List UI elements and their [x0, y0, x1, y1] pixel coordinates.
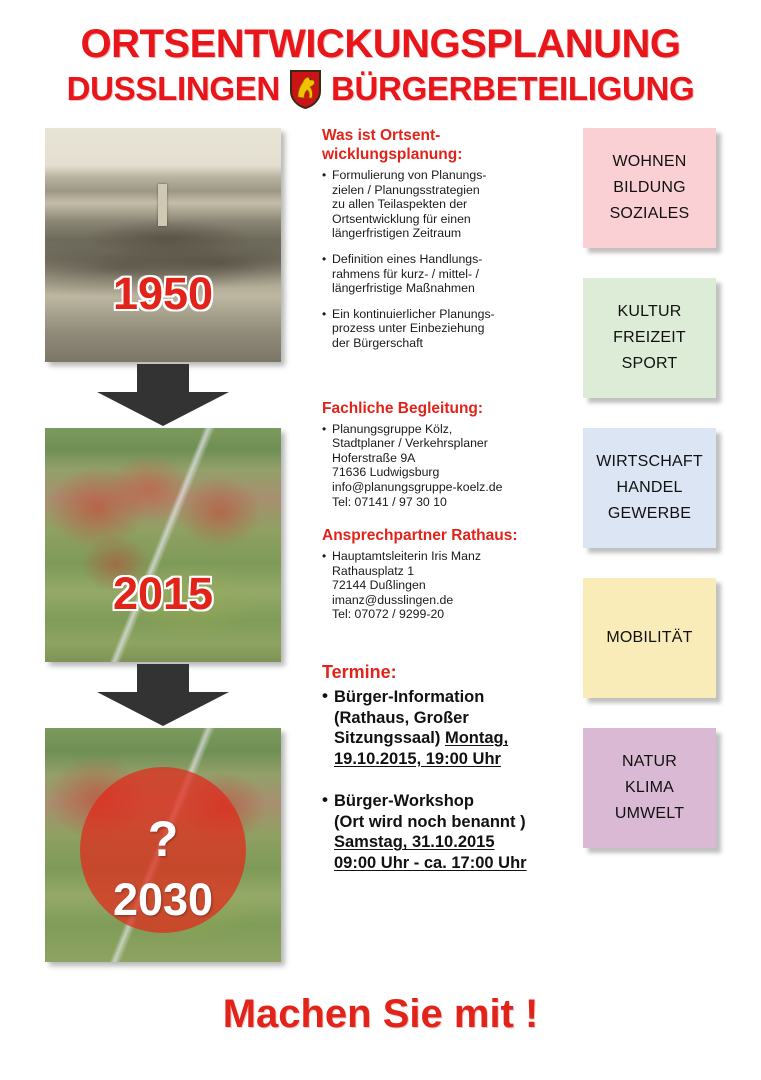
theme-line: FREIZEIT	[589, 325, 710, 351]
theme-line: WOHNEN	[589, 149, 710, 175]
org-name: Planungsgruppe Kölz,	[332, 422, 452, 436]
org-city: 71636 Ludwigsburg	[332, 465, 439, 479]
theme-line: KLIMA	[589, 775, 710, 801]
list-item: Planungsgruppe Kölz, Stadtplaner / Verke…	[322, 422, 567, 510]
photo-year-label: 2030	[45, 876, 281, 924]
call-to-action-slogan: Machen Sie mit !	[0, 992, 761, 1037]
theme-line: MOBILITÄT	[589, 625, 710, 651]
event-venue: (Ort wird noch benannt )	[334, 813, 526, 831]
theme-line: SOZIALES	[589, 201, 710, 227]
org-phone: Tel: 07141 / 97 30 10	[332, 495, 447, 509]
subtitle-row: DUSSLINGEN BÜRGERBETEILIGUNG	[0, 69, 761, 109]
dusslingen-coat-of-arms-icon	[289, 69, 322, 109]
event-venue: (Rathaus, Großer	[334, 709, 469, 727]
event-datetime: 19.10.2015, 19:00 Uhr	[334, 750, 501, 768]
municipality-name: DUSSLINGEN	[67, 69, 280, 109]
what-is-bullet-list: Formulierung von Planungs- zielen / Plan…	[322, 168, 567, 351]
theme-box-natur-klima-umwelt: NATUR KLIMA UMWELT	[583, 728, 716, 848]
timeline-photo-column: 1950 2015 ? 2030	[45, 128, 281, 962]
section-heading-ansprechpartner: Ansprechpartner Rathaus:	[322, 526, 567, 545]
heading-line-2: wicklungsplanung:	[322, 146, 462, 163]
contact-street: Rathausplatz 1	[332, 564, 414, 578]
theme-line: BILDUNG	[589, 175, 710, 201]
bullet-text: Definition eines Handlungs- rahmens für …	[332, 252, 482, 295]
event-day: Samstag, 31.10.2015	[334, 833, 495, 851]
org-street: Hoferstraße 9A	[332, 451, 415, 465]
list-item: Ein kontinuierlicher Planungs- prozess u…	[322, 307, 567, 351]
theme-boxes-column: WOHNEN BILDUNG SOZIALES KULTUR FREIZEIT …	[583, 128, 743, 848]
participation-label: BÜRGERBETEILIGUNG	[331, 69, 694, 109]
aerial-photo-2030-future: ? 2030	[45, 728, 281, 962]
event-venue-cont: Sitzungssaal)	[334, 729, 440, 747]
aerial-photo-2015: 2015	[45, 428, 281, 662]
down-arrow-icon	[97, 364, 229, 426]
townhall-contact-list: Hauptamtsleiterin Iris Manz Rathausplatz…	[322, 549, 567, 622]
list-item: Formulierung von Planungs- zielen / Plan…	[322, 168, 567, 241]
list-item: Hauptamtsleiterin Iris Manz Rathausplatz…	[322, 549, 567, 622]
poster-header: ORTSENTWICKUNGSPLANUNG DUSSLINGEN BÜRGER…	[0, 22, 761, 109]
down-arrow-icon	[97, 664, 229, 726]
historic-village-photo: 1950	[45, 128, 281, 362]
question-mark-label: ?	[45, 814, 281, 864]
heading-line-1: Was ist Ortsent-	[322, 127, 440, 144]
support-contact-list: Planungsgruppe Kölz, Stadtplaner / Verke…	[322, 422, 567, 510]
theme-line: SPORT	[589, 351, 710, 377]
theme-box-kultur-freizeit-sport: KULTUR FREIZEIT SPORT	[583, 278, 716, 398]
contact-email[interactable]: imanz@dusslingen.de	[332, 593, 453, 607]
contact-city: 72144 Dußlingen	[332, 578, 426, 592]
events-list: Bürger-Information (Rathaus, Großer Sitz…	[322, 687, 567, 873]
contact-phone: Tel: 07072 / 9299-20	[332, 607, 444, 621]
theme-line: KULTUR	[589, 299, 710, 325]
photo-year-label: 2015	[45, 570, 281, 618]
theme-line: GEWERBE	[589, 501, 710, 527]
list-item: Bürger-Information (Rathaus, Großer Sitz…	[322, 687, 567, 769]
event-title: Bürger-Workshop	[334, 792, 474, 810]
theme-line: NATUR	[589, 749, 710, 775]
theme-box-wirtschaft-handel-gewerbe: WIRTSCHAFT HANDEL GEWERBE	[583, 428, 716, 548]
theme-box-mobilitaet: MOBILITÄT	[583, 578, 716, 698]
section-heading-fachliche-begleitung: Fachliche Begleitung:	[322, 399, 567, 418]
contact-person: Hauptamtsleiterin Iris Manz	[332, 549, 481, 563]
page-title: ORTSENTWICKUNGSPLANUNG	[0, 22, 761, 66]
photo-year-label: 1950	[45, 270, 281, 318]
content-text-column: Was ist Ortsent- wicklungsplanung: Formu…	[322, 126, 567, 895]
event-day: Montag,	[445, 729, 508, 747]
org-email[interactable]: info@planungsgruppe-koelz.de	[332, 480, 502, 494]
section-heading-termine: Termine:	[322, 661, 567, 683]
theme-line: HANDEL	[589, 475, 710, 501]
section-heading-what-is: Was ist Ortsent- wicklungsplanung:	[322, 126, 567, 164]
org-role: Stadtplaner / Verkehrsplaner	[332, 436, 488, 450]
theme-line: UMWELT	[589, 801, 710, 827]
bullet-text: Formulierung von Planungs- zielen / Plan…	[332, 168, 486, 240]
bullet-text: Ein kontinuierlicher Planungs- prozess u…	[332, 307, 495, 350]
event-datetime: 09:00 Uhr - ca. 17:00 Uhr	[334, 854, 527, 872]
list-item: Definition eines Handlungs- rahmens für …	[322, 252, 567, 296]
theme-line: WIRTSCHAFT	[589, 449, 710, 475]
theme-box-wohnen-bildung-soziales: WOHNEN BILDUNG SOZIALES	[583, 128, 716, 248]
list-item: Bürger-Workshop (Ort wird noch benannt )…	[322, 791, 567, 873]
event-title: Bürger-Information	[334, 688, 484, 706]
